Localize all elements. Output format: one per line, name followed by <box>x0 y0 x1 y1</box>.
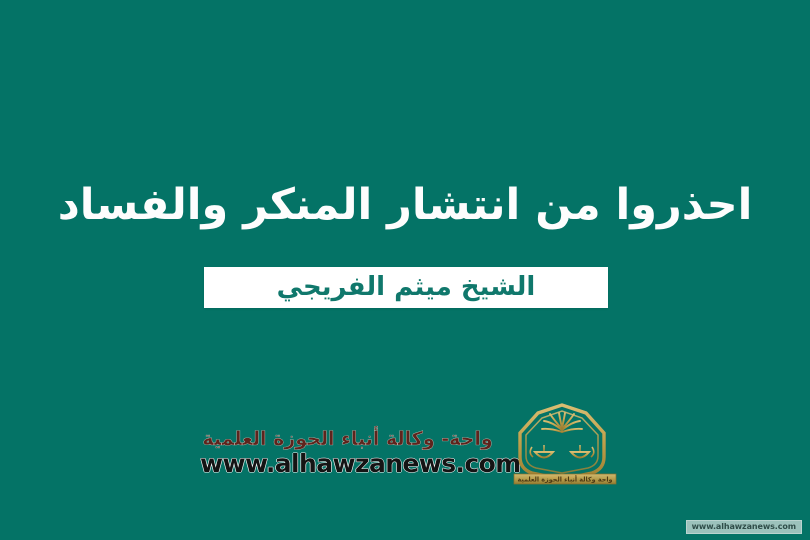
agency-website-url: www.alhawzanews.com <box>200 451 495 476</box>
svg-text:واحة وكالة أنباء الحوزة العلمي: واحة وكالة أنباء الحوزة العلمية <box>517 475 612 484</box>
speaker-name-text: الشيخ ميثم الفريجي <box>277 274 536 302</box>
corner-watermark: www.alhawzanews.com <box>686 520 802 534</box>
shield-palm-scales-emblem-icon: واحة وكالة أنباء الحوزة العلمية <box>504 399 620 485</box>
corner-watermark-text: www.alhawzanews.com <box>692 523 796 531</box>
headline: احذروا من انتشار المنكر والفساد <box>0 172 810 240</box>
speaker-name-plate: الشيخ ميثم الفريجي <box>204 267 608 308</box>
agency-arabic-name: واحة- وكالة أنباء الحوزة العلمية <box>200 430 495 450</box>
brand-lockup: واحة- وكالة أنباء الحوزة العلمية www.alh… <box>200 399 620 485</box>
brand-wordmark: واحة- وكالة أنباء الحوزة العلمية www.alh… <box>200 430 495 476</box>
headline-text: احذروا من انتشار المنكر والفساد <box>58 181 753 230</box>
news-banner-image: احذروا من انتشار المنكر والفساد الشيخ مي… <box>0 0 810 540</box>
